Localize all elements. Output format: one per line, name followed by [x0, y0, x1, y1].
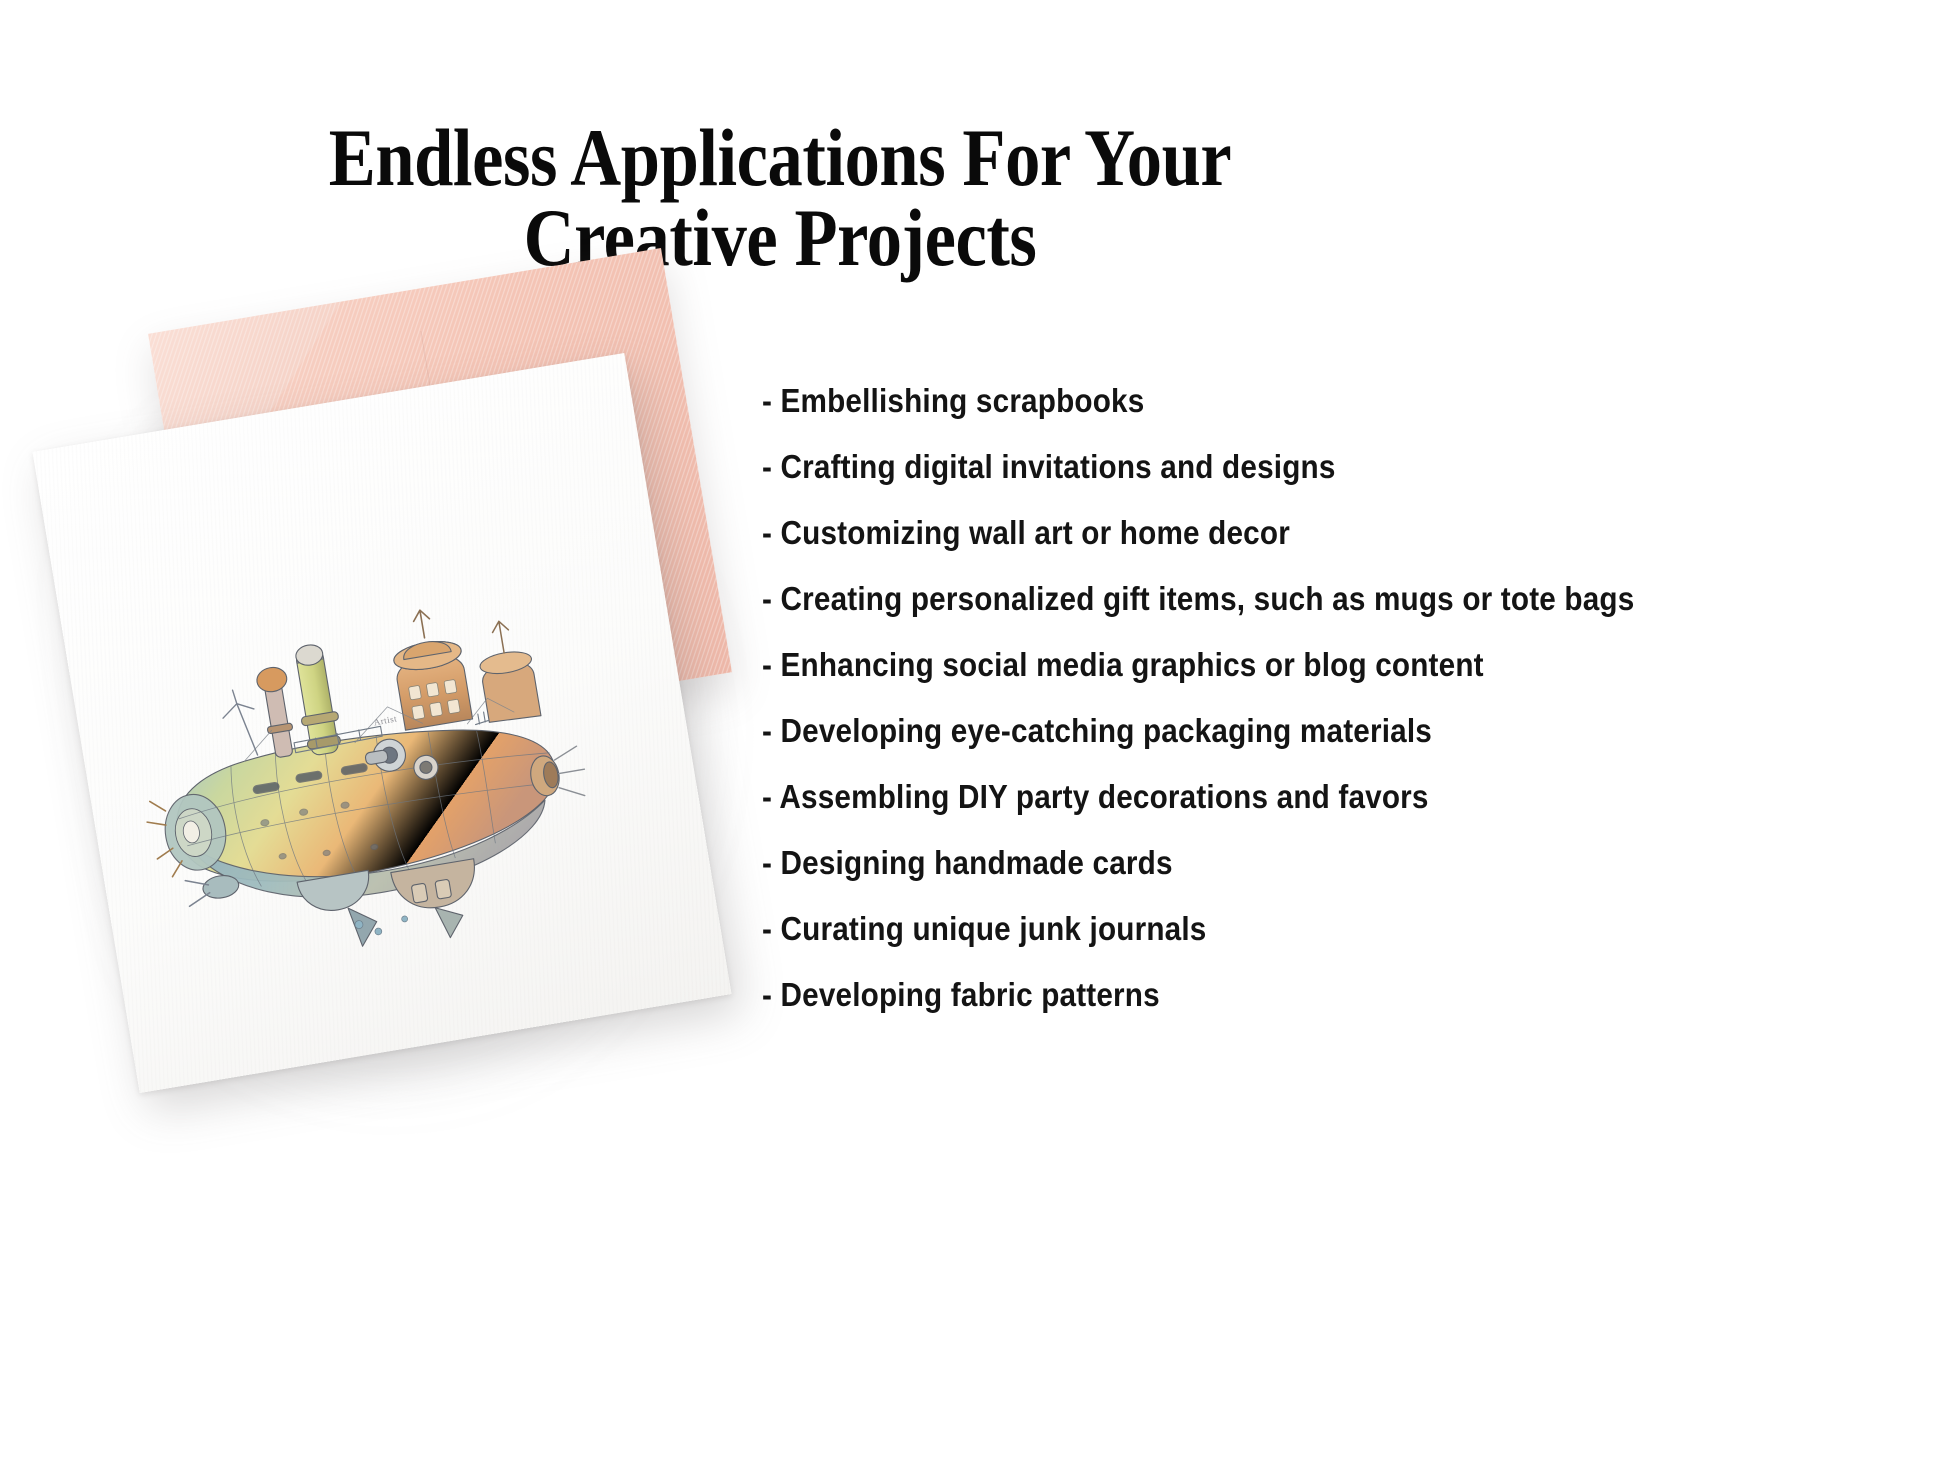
list-item: - Developing fabric patterns: [762, 962, 1788, 1028]
list-item: - Developing eye-catching packaging mate…: [762, 698, 1788, 764]
list-item: - Creating personalized gift items, such…: [762, 566, 1788, 632]
list-item: - Curating unique junk journals: [762, 896, 1788, 962]
airship-illustration: [103, 550, 662, 1027]
list-item: - Designing handmade cards: [762, 830, 1788, 896]
list-item: - Enhancing social media graphics or blo…: [762, 632, 1788, 698]
list-item: - Assembling DIY party decorations and f…: [762, 764, 1788, 830]
list-item: - Customizing wall art or home decor: [762, 500, 1788, 566]
product-photo: Artist: [60, 250, 880, 1150]
list-item: - Embellishing scrapbooks: [762, 368, 1788, 434]
list-item: - Crafting digital invitations and desig…: [762, 434, 1788, 500]
page-title-line-1: Endless Applications For Your: [109, 118, 1451, 198]
applications-list: - Embellishing scrapbooks - Crafting dig…: [762, 368, 1902, 1028]
greeting-card: Artist: [32, 353, 731, 1093]
